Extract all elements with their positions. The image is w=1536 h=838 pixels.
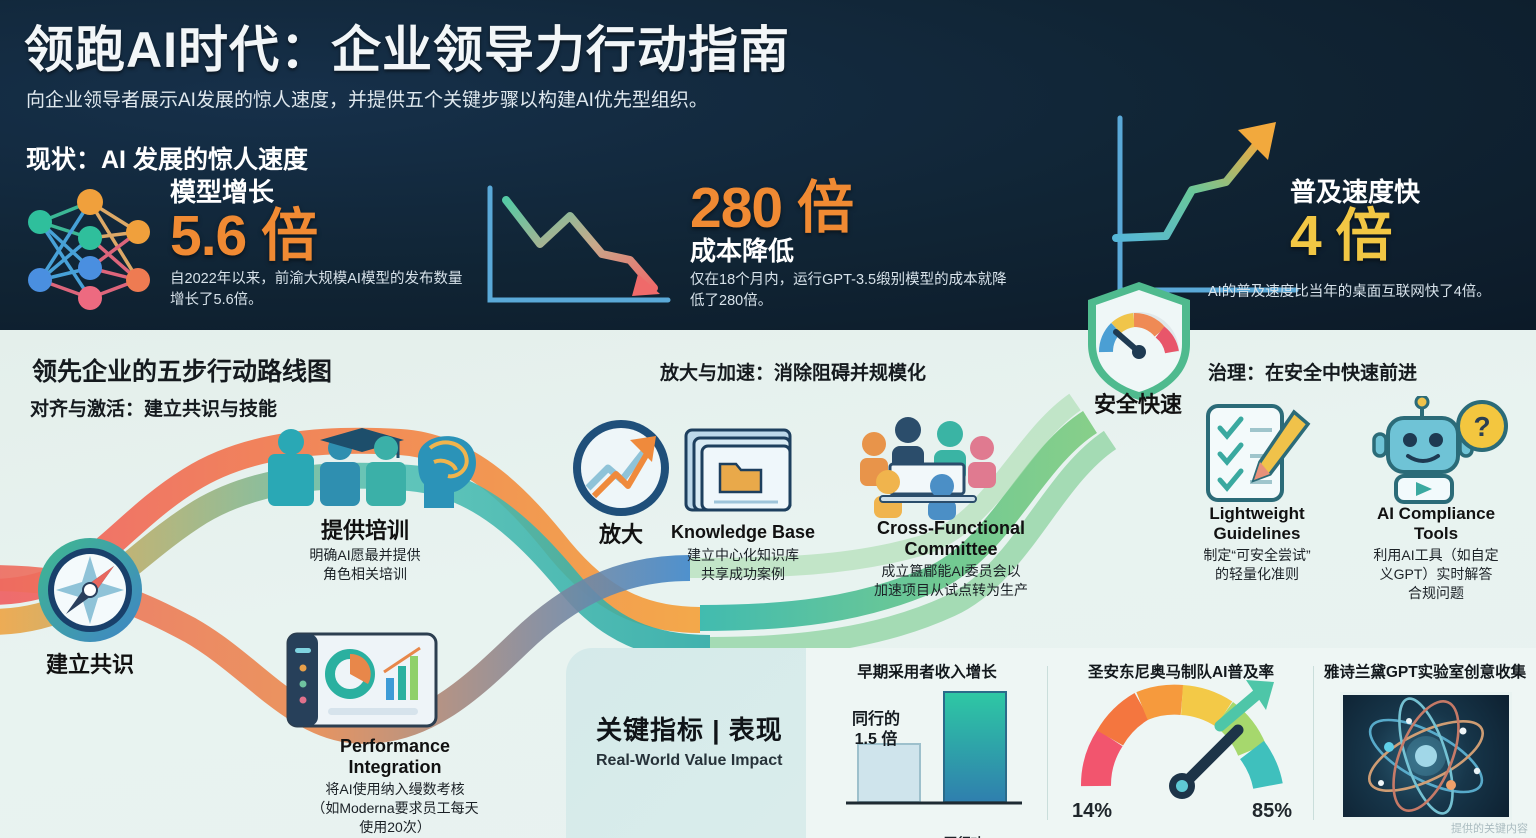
gauge-max-label: 85% xyxy=(1252,800,1292,823)
stat-model-growth: 模型增长 5.6 倍 自2022年以来，前渝大规模AI模型的发布数量增长了5.6… xyxy=(170,178,470,311)
node-lightweight-guidelines: Lightweight Guidelines 制定“可安全尝试” 的轻量化准则 xyxy=(1172,504,1342,584)
node-description: 成立簋郿能AI委员会以 加速项目从试点转为生产 xyxy=(836,562,1066,600)
page-title: 领跑AI时代：企业领导力行动指南 xyxy=(24,10,790,82)
node-description: 将AI使用纳入缦数考核 （如Moderna要求员工每天 使用20次） xyxy=(250,780,540,837)
stat-value: 280 倍 xyxy=(690,180,1020,237)
amplify-arrow-icon xyxy=(568,416,674,520)
stat-description: 自2022年以来，前渝大规模AI模型的发布数量增长了5.6倍。 xyxy=(170,269,470,311)
stat-adoption-speed: 普及速度快 4 倍 xyxy=(1290,178,1536,265)
node-description: 制定“可安全尝试” 的轻量化准则 xyxy=(1172,546,1342,584)
dashboard-laptop-icon xyxy=(282,628,442,738)
declining-line-chart-icon xyxy=(478,182,678,312)
node-description: 利用AI工具（如自定 义GPT）实时解答 合规问题 xyxy=(1346,546,1526,603)
page-subtitle: 向企业领导者展示AI发展的惊人速度，并提供五个关键步骤以构建AI优先型组织。 xyxy=(26,85,708,112)
books-folder-icon xyxy=(678,420,800,520)
infographic-root: 领跑AI时代：企业领导力行动指南 向企业领导者展示AI发展的惊人速度，并提供五个… xyxy=(0,0,1536,838)
stat-cost-reduction: 280 倍 成本降低 仅在18个月内，运行GPT-3.5缎别模型的成本就降低了2… xyxy=(690,180,1020,312)
node-title: 提供培训 xyxy=(240,518,490,543)
metrics-panel: 关键指标 | 表现 Real-World Value Impact 早期采用者收… xyxy=(566,648,1536,838)
node-safe-fast: 安全快速 xyxy=(1058,392,1218,417)
node-performance-integration: Performance Integration 将AI使用纳入缦数考核 （如Mo… xyxy=(250,736,540,837)
phase-title-govern: 治理：在安全中快速前进 xyxy=(1208,358,1417,385)
node-title: AI Compliance Tools xyxy=(1346,504,1526,543)
node-title: Cross-Functional Committee xyxy=(836,518,1066,559)
node-build-consensus: 建立共识 xyxy=(20,652,160,677)
stat-adoption-description: AI的普及速度比当年的桌面互联网快了4倍。 xyxy=(1208,282,1528,303)
checklist-pencil-icon xyxy=(1198,398,1316,508)
metric-card-title: 雅诗兰黛GPT实验室创意收集 xyxy=(1314,648,1536,682)
stat-description: 仅在18个月内，运行GPT-3.5缎别模型的成本就降低了280倍。 xyxy=(690,270,1020,312)
phase-title-amplify: 放大与加速：消除阻碍并规模化 xyxy=(660,358,926,385)
ai-robot-question-icon: ? xyxy=(1370,396,1510,508)
compass-icon xyxy=(28,532,152,648)
gauge-min-label: 14% xyxy=(1072,800,1112,823)
stat-value: 4 倍 xyxy=(1290,208,1536,265)
status-section-title: 现状：AI 发展的惊人速度 xyxy=(26,140,308,176)
node-cross-functional-committee: Cross-Functional Committee 成立簋郿能AI委员会以 加… xyxy=(836,518,1066,600)
metrics-title-cn: 关键指标 | 表现 xyxy=(596,710,783,747)
metric-card-title: 早期采用者收入增长 xyxy=(806,648,1048,682)
metric-card-gpt-lab: 雅诗兰黛GPT实验室创意收集 xyxy=(1314,648,1536,838)
metrics-title-en: Real-World Value Impact xyxy=(596,752,783,770)
node-title: 安全快速 xyxy=(1058,392,1218,417)
roadmap-heading: 领先企业的五步行动路线图 xyxy=(32,352,332,388)
neural-network-icon xyxy=(10,180,160,310)
hero-section: 领跑AI时代：企业领导力行动指南 向企业领导者展示AI发展的惊人速度，并提供五个… xyxy=(0,0,1536,330)
node-ai-compliance-tools: AI Compliance Tools 利用AI工具（如自定 义GPT）实时解答… xyxy=(1346,504,1526,603)
gauge-chart xyxy=(1070,678,1294,810)
shield-speedometer-icon xyxy=(1078,278,1200,404)
committee-meeting-icon xyxy=(846,408,1006,520)
stat-label: 成本降低 xyxy=(690,237,1020,266)
node-title: Performance Integration xyxy=(250,736,540,777)
atom-illustration xyxy=(1340,692,1512,820)
node-provide-training: 提供培训 明确AI愿最并提供 角色相关培训 xyxy=(240,518,490,584)
node-description: 明确AI愿最并提供 角色相关培训 xyxy=(240,546,490,584)
metrics-heading: 关键指标 | 表现 Real-World Value Impact xyxy=(596,710,783,770)
node-description: 建立中心化知识库 共享成功案例 xyxy=(648,546,838,584)
node-knowledge-base: Knowledge Base 建立中心化知识库 共享成功案例 xyxy=(648,522,838,583)
node-title: Knowledge Base xyxy=(648,522,838,543)
stat-value: 5.6 倍 xyxy=(170,208,470,265)
node-title: 建立共识 xyxy=(20,652,160,677)
bar-chart xyxy=(824,682,1030,832)
phase-title-align: 对齐与激活：建立共识与技能 xyxy=(30,394,277,421)
svg-text:?: ? xyxy=(1473,411,1490,442)
metric-card-revenue-growth: 早期采用者收入增长 同行的 1.5 倍 Early Adopters 同行劝 xyxy=(806,648,1048,838)
metric-card-ai-adoption-gauge: 圣安东尼奥马制队AI普及率 14% 85% xyxy=(1048,648,1314,838)
metric-card-title: 圣安东尼奥马制队AI普及率 xyxy=(1048,648,1314,682)
bar-annotation: 同行的 1.5 倍 xyxy=(834,710,918,750)
training-education-icon xyxy=(258,418,488,514)
watermark: 提供的关键内容 xyxy=(1451,820,1528,836)
node-title: Lightweight Guidelines xyxy=(1172,504,1342,543)
